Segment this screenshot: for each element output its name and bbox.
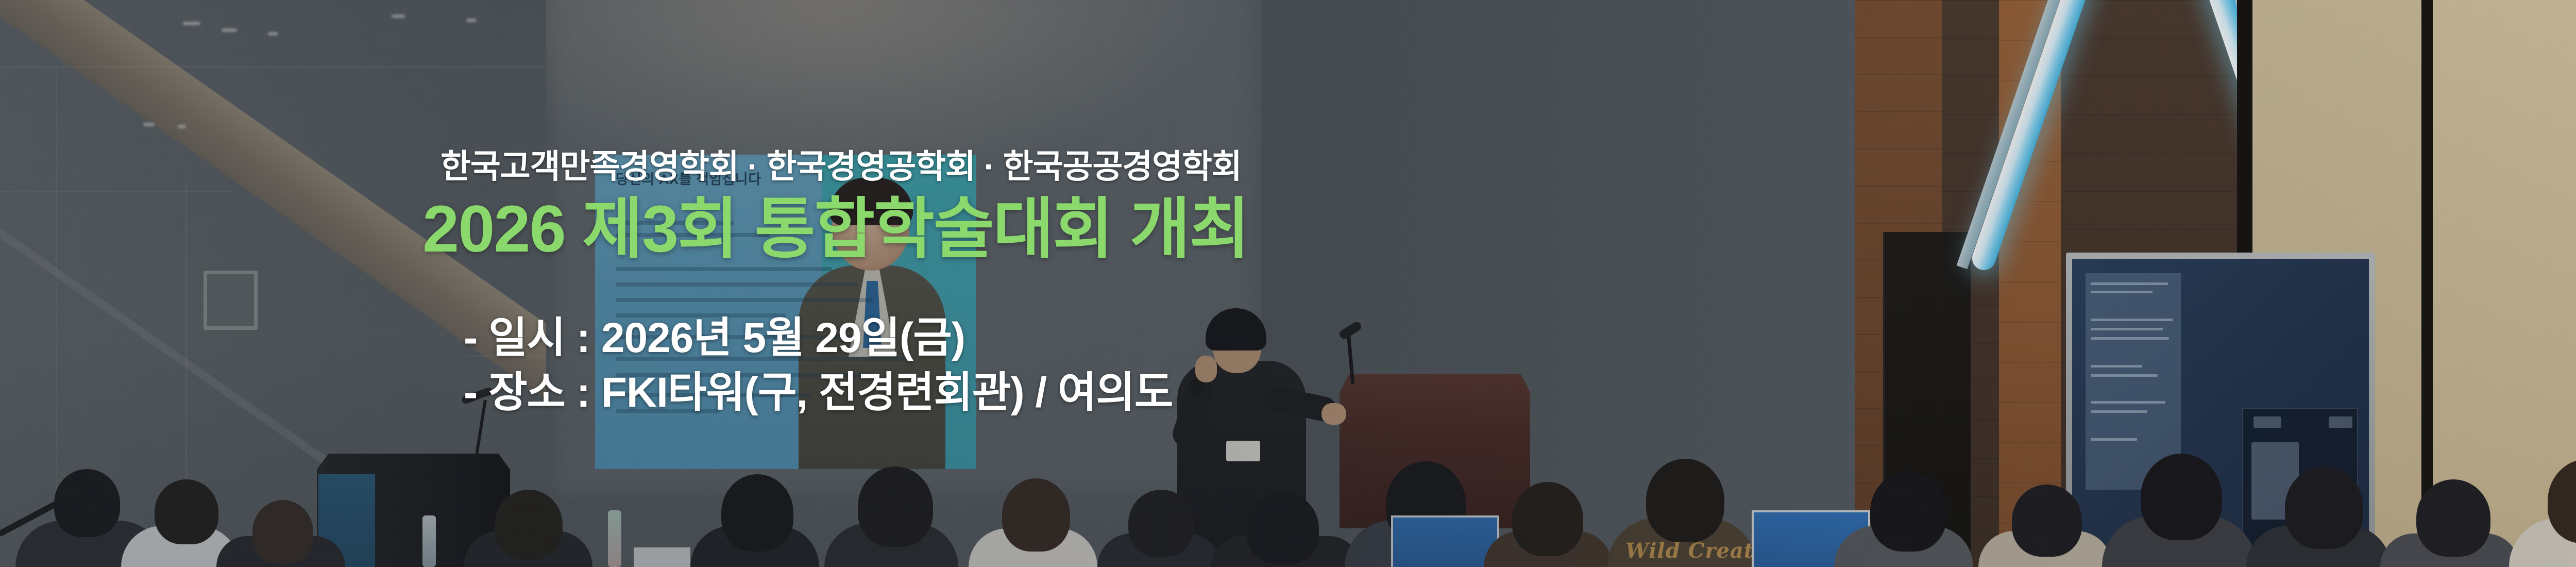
event-place-line: - 장소 : FKI타워(구, 전경련회관) / 여의도 [464, 358, 1173, 419]
banner-title: 2026 제3회 통합학술대회 개최 [422, 195, 1249, 264]
banner-text-overlay: 한국고객만족경영학회 · 한국경영공학회 · 한국공공경영학회 2026 제3회… [0, 0, 2576, 567]
associations-line: 한국고객만족경영학회 · 한국경영공학회 · 한국공공경영학회 [440, 140, 1242, 188]
event-date-line: - 일시 : 2026년 5월 29일(금) [464, 303, 965, 364]
event-banner: 당신의 AX를 책임집니다 [0, 0, 2576, 567]
